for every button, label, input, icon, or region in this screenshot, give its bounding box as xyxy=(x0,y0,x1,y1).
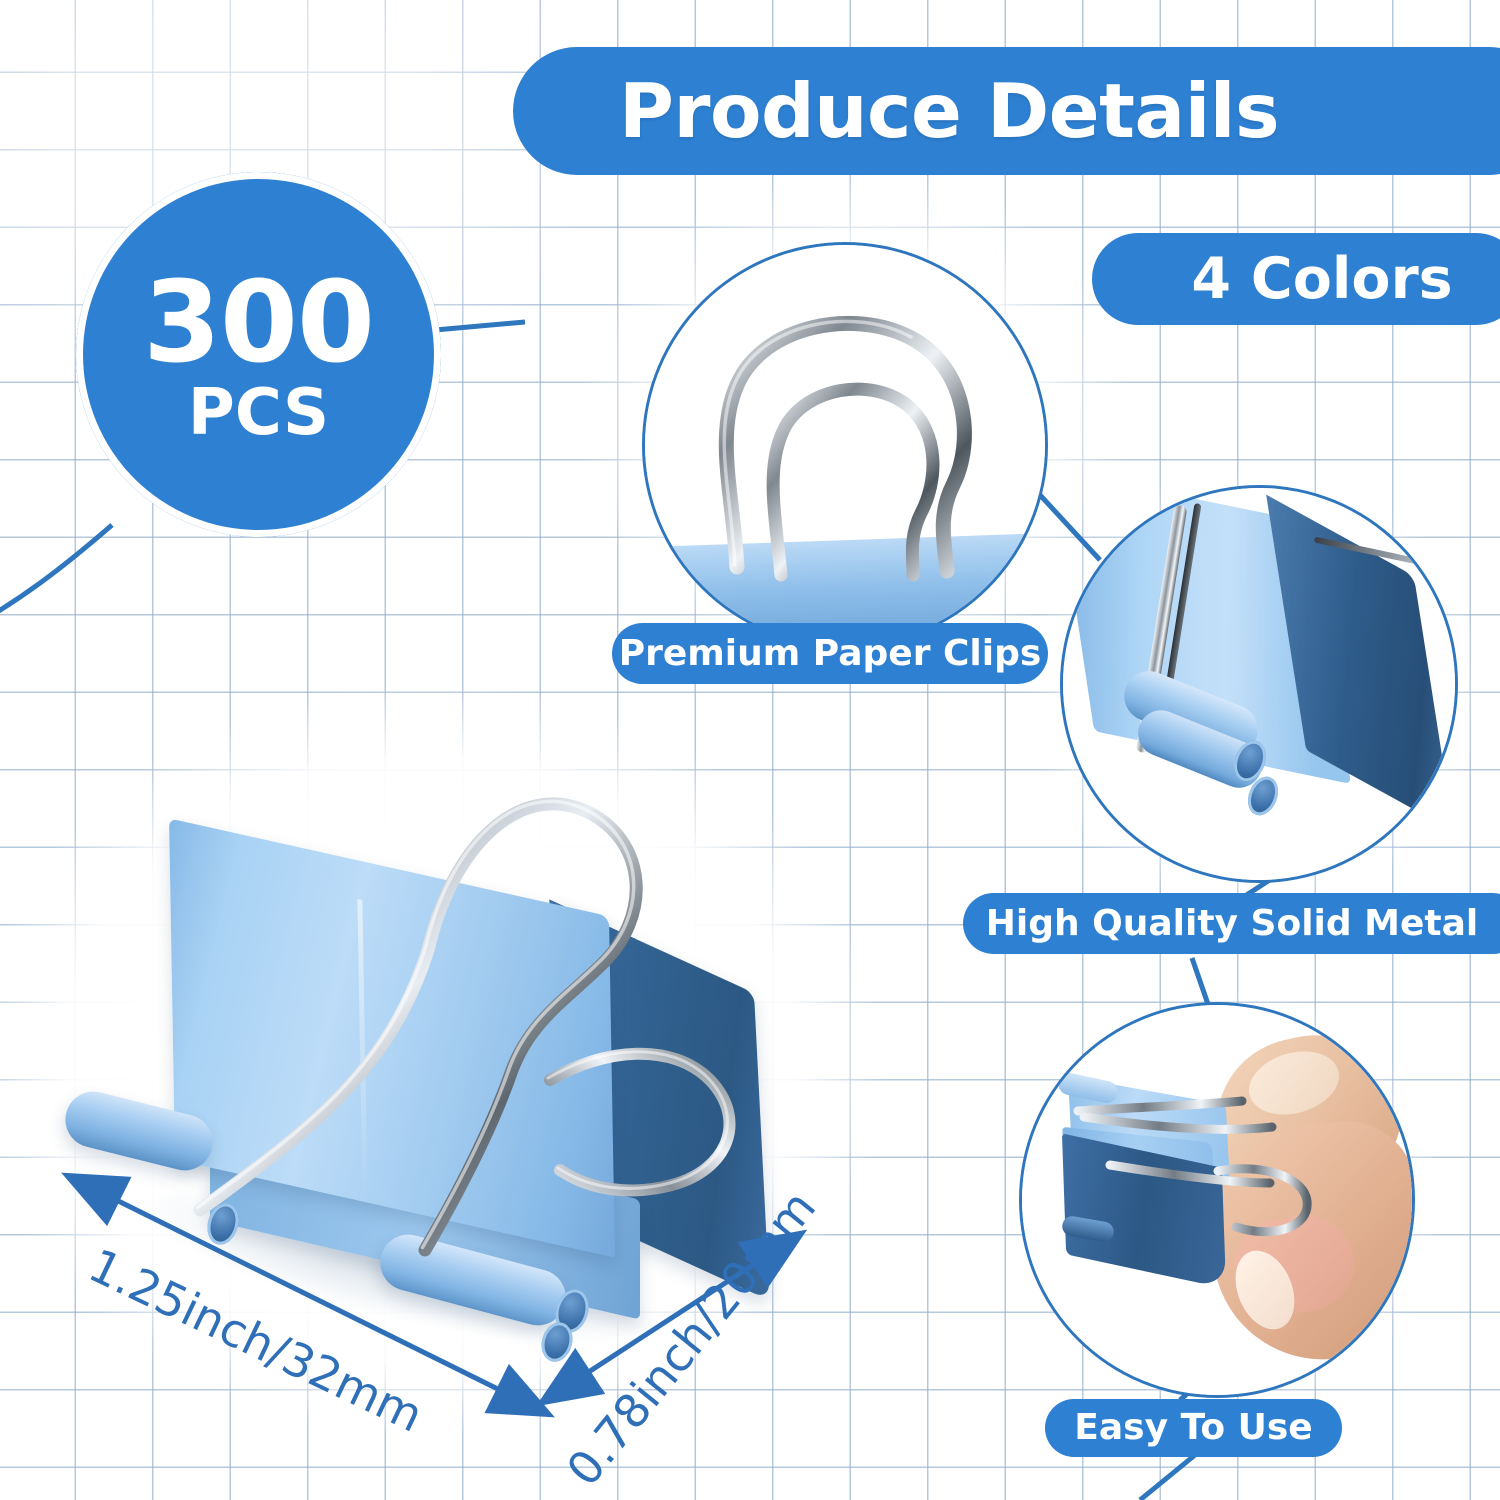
clip-handles-closeup-photo xyxy=(645,245,1045,645)
quantity-badge: 300 PCS xyxy=(76,172,441,537)
quantity-unit: PCS xyxy=(188,381,329,445)
title-banner: Produce Details xyxy=(513,47,1500,175)
caption-easy-to-use: Easy To Use xyxy=(1045,1399,1342,1457)
colors-count-badge: 4 Colors xyxy=(1092,233,1500,325)
hand-using-clip-photo xyxy=(1022,1005,1412,1395)
caption-metal-label: High Quality Solid Metal xyxy=(986,906,1500,942)
caption-easy-label: Easy To Use xyxy=(1074,1410,1312,1446)
caption-high-quality-solid-metal: High Quality Solid Metal xyxy=(963,893,1500,954)
wire-handles-art xyxy=(645,245,1045,645)
quantity-number: 300 xyxy=(143,270,374,376)
metal-closeup-photo xyxy=(1063,488,1455,880)
infographic-canvas: 1.25inch/32mm 0.78inch/20mm xyxy=(0,0,1500,1500)
page-title: Produce Details xyxy=(619,74,1279,149)
colors-count-label: 4 Colors xyxy=(1191,251,1452,308)
caption-premium-paper-clips: Premium Paper Clips xyxy=(612,623,1048,684)
caption-premium-label: Premium Paper Clips xyxy=(619,636,1042,672)
mini-wire-handles xyxy=(1022,1005,1412,1395)
